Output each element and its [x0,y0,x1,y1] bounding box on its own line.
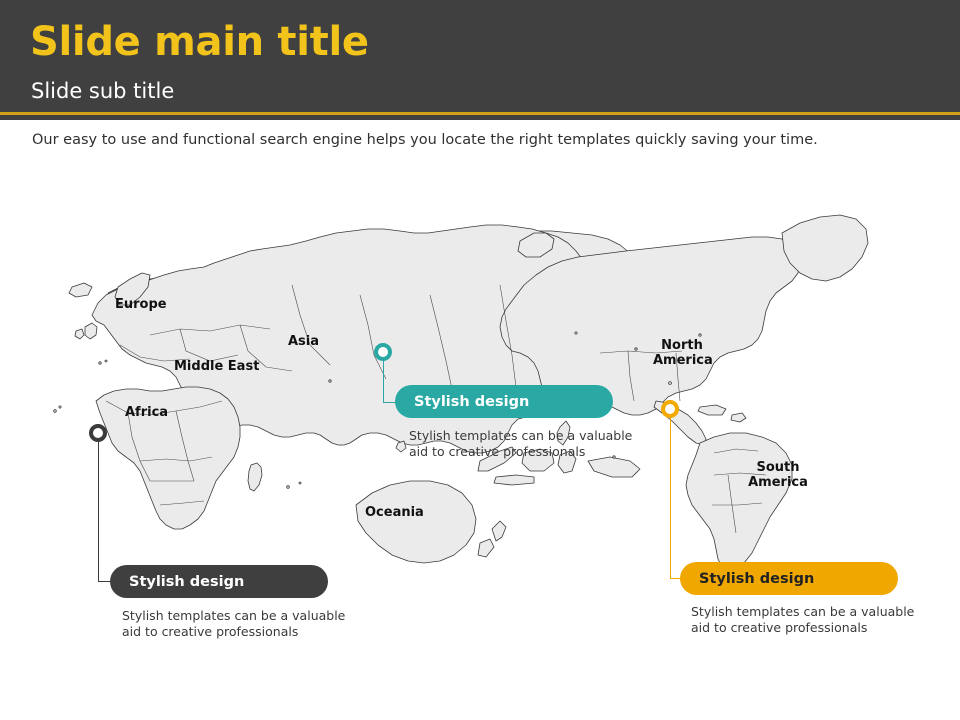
connector-line-asia-vertical [383,361,384,402]
connector-line-americas-vertical [670,418,671,578]
callout-title-asia[interactable]: Stylish design [395,385,613,418]
callout-description-africa: Stylish templates can be a valuable aid … [122,608,362,640]
island-dot [699,334,701,336]
header-bottom-strip [0,115,960,120]
landmass-newguinea [588,457,640,477]
map-marker-asia[interactable] [374,343,392,361]
island-dot [59,406,61,408]
landmass-cuba [698,405,726,415]
landmass-australia [356,481,476,563]
landmass-hispaniola [731,413,746,422]
world-map-svg [0,175,960,575]
slide-header: Slide main title Slide sub title [0,0,960,113]
landmass-new-zealand [492,521,506,541]
callout-description-americas: Stylish templates can be a valuable aid … [691,604,931,636]
connector-line-africa-vertical [98,442,99,581]
island-dot [287,486,290,489]
map-marker-africa[interactable] [89,424,107,442]
landmass-ireland [75,329,84,339]
callout-title-africa[interactable]: Stylish design [110,565,328,598]
intro-paragraph: Our easy to use and functional search en… [32,130,932,150]
landmass-sri-lanka [396,441,406,452]
page-subtitle: Slide sub title [31,78,174,104]
map-marker-americas[interactable] [661,400,679,418]
landmass-new-zealand-south [478,539,494,557]
callout-description-asia: Stylish templates can be a valuable aid … [409,428,649,460]
island-dot [635,348,637,350]
island-dot [99,362,101,364]
landmass-british-isles [85,323,97,339]
landmass-madagascar [248,463,262,491]
page-title: Slide main title [30,18,369,66]
landmass-java [494,475,534,485]
landmass-south-america [686,433,792,571]
callout-title-americas[interactable]: Stylish design [680,562,898,595]
landmass-iceland [69,283,92,297]
island-dot [329,380,331,382]
island-dot [669,382,672,385]
island-dot [105,360,107,362]
island-dot [54,410,57,413]
landmass-africa [96,387,240,529]
island-dot [575,332,577,334]
island-dot [299,482,301,484]
world-map [0,175,960,575]
